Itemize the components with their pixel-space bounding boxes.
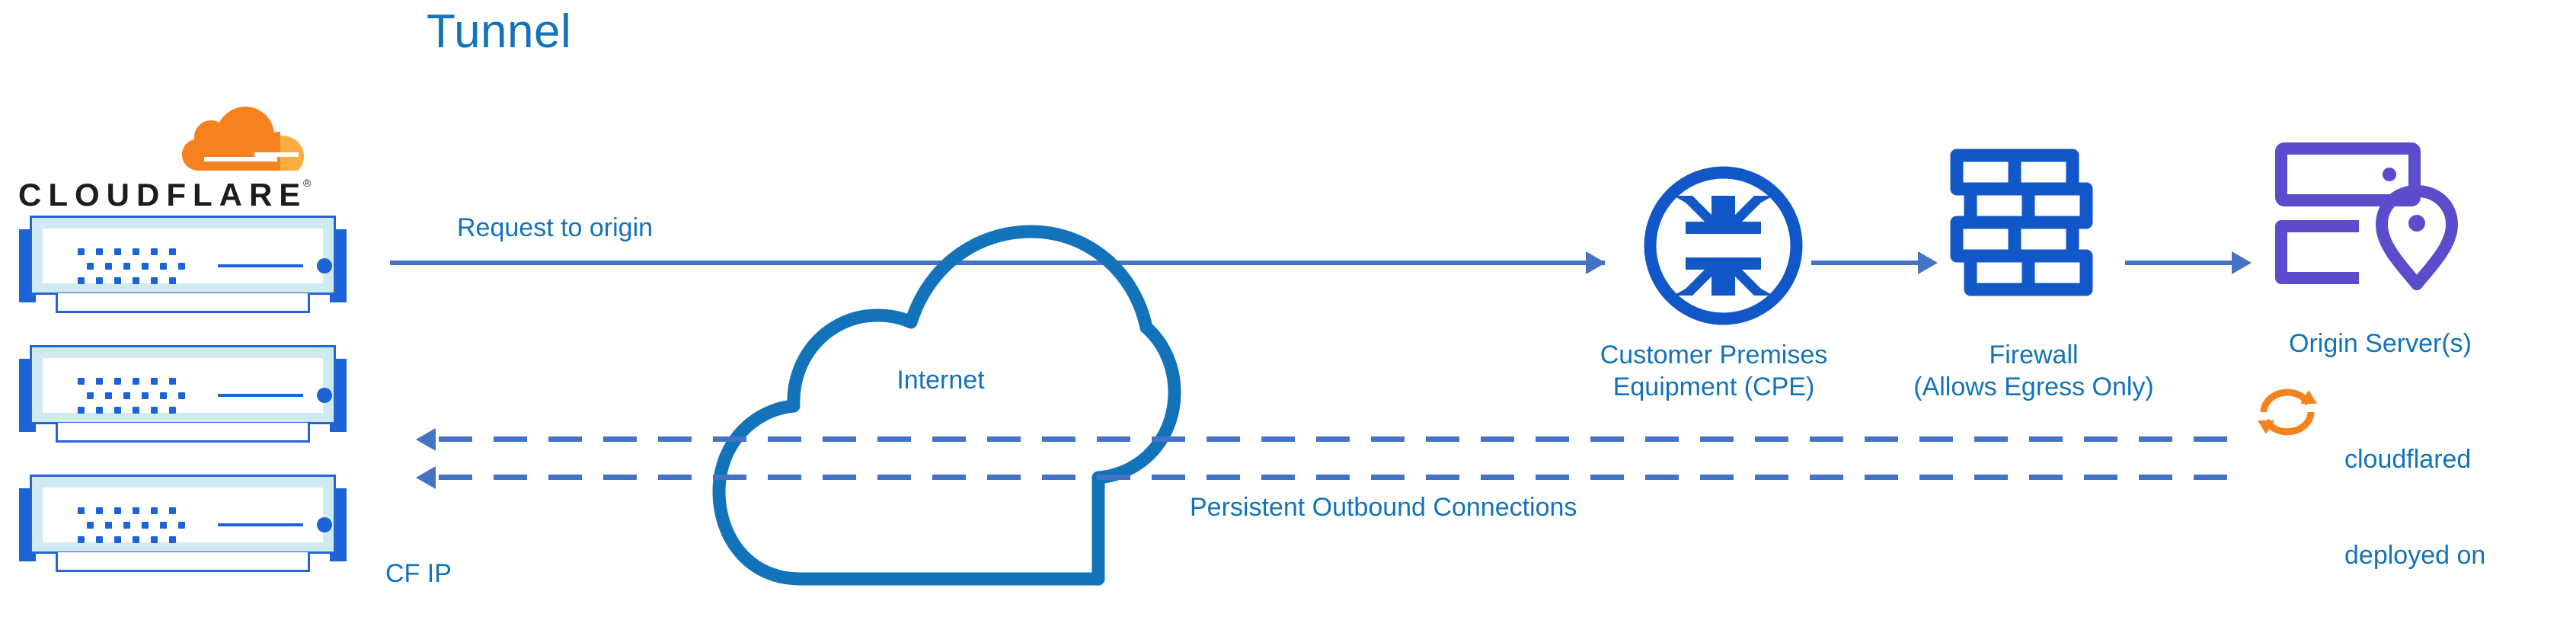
request-to-origin-label: Request to origin (457, 212, 653, 244)
origin-server-label: Origin Server(s) (2255, 328, 2506, 360)
server-base (56, 552, 310, 572)
persistent-connection-arrow-head-bottom (416, 466, 436, 489)
persistent-connection-line-bottom (439, 475, 2244, 480)
cpe-to-firewall-line (1811, 261, 1922, 265)
server-shell (30, 216, 336, 295)
cf-server-2 (19, 345, 347, 447)
firewall-label-line2: (Allows Egress Only) (1870, 371, 2197, 403)
firewall-label: Firewall (Allows Egress Only) (1870, 339, 2197, 403)
origin-server-pin-icon (2274, 141, 2472, 293)
cf-server-3 (19, 475, 347, 577)
tunnel-diagram-canvas: Tunnel CLOUDFLARE ® (0, 0, 2576, 617)
cloudflare-logo: CLOUDFLARE ® (15, 107, 335, 221)
cloudflare-wordmark: CLOUDFLARE (18, 177, 307, 213)
cpe-label-line2: Equipment (CPE) (1539, 371, 1889, 403)
server-led-icon (317, 517, 332, 532)
server-shell (30, 475, 336, 554)
registered-trademark-mark: ® (303, 177, 311, 189)
cloudflared-label-line1: cloudflared (2344, 443, 2573, 475)
cpe-label-line1: Customer Premises (1539, 339, 1889, 371)
server-led-icon (317, 388, 332, 403)
server-status-line (218, 264, 303, 267)
server-face (43, 358, 323, 413)
server-status-line (218, 523, 303, 526)
cloudflare-cloud-mark-icon (168, 107, 312, 175)
cpe-label: Customer Premises Equipment (CPE) (1539, 339, 1889, 403)
server-vent-dots-icon (78, 248, 184, 285)
firewall-to-origin-line (2125, 261, 2236, 265)
internet-label: Internet (845, 366, 1036, 395)
persistent-connection-line-top (439, 436, 2244, 442)
cf-ip-anycast-label: CF IP (Anycast) (385, 494, 495, 617)
server-vent-dots-icon (78, 507, 184, 544)
server-face (43, 488, 323, 542)
server-base (56, 423, 310, 443)
page-title: Tunnel (427, 5, 571, 59)
refresh-cycle-icon (2256, 381, 2319, 443)
server-shell (30, 345, 336, 424)
server-face (43, 229, 323, 283)
request-arrow-head (1586, 251, 1606, 274)
server-vent-dots-icon (78, 378, 184, 414)
brick-wall-icon (1950, 149, 2114, 308)
cloudflared-label-line2: deployed on (2344, 539, 2573, 571)
cf-ip-label-line1: CF IP (385, 558, 495, 590)
persistent-connection-arrow-head-top (416, 428, 436, 451)
cloudflared-label: cloudflared deployed on servers (2344, 379, 2573, 617)
server-base (56, 293, 310, 313)
firewall-to-origin-arrow-head (2232, 251, 2252, 274)
cf-server-1 (19, 216, 347, 318)
firewall-label-line1: Firewall (1870, 339, 2197, 371)
server-led-icon (317, 258, 332, 273)
server-status-line (218, 394, 303, 397)
internet-cloud-icon (708, 221, 1188, 594)
persistent-outbound-connections-label: Persistent Outbound Connections (1190, 491, 1577, 523)
cpe-converging-arrows-icon (1641, 164, 1805, 328)
cpe-to-firewall-arrow-head (1918, 251, 1938, 274)
